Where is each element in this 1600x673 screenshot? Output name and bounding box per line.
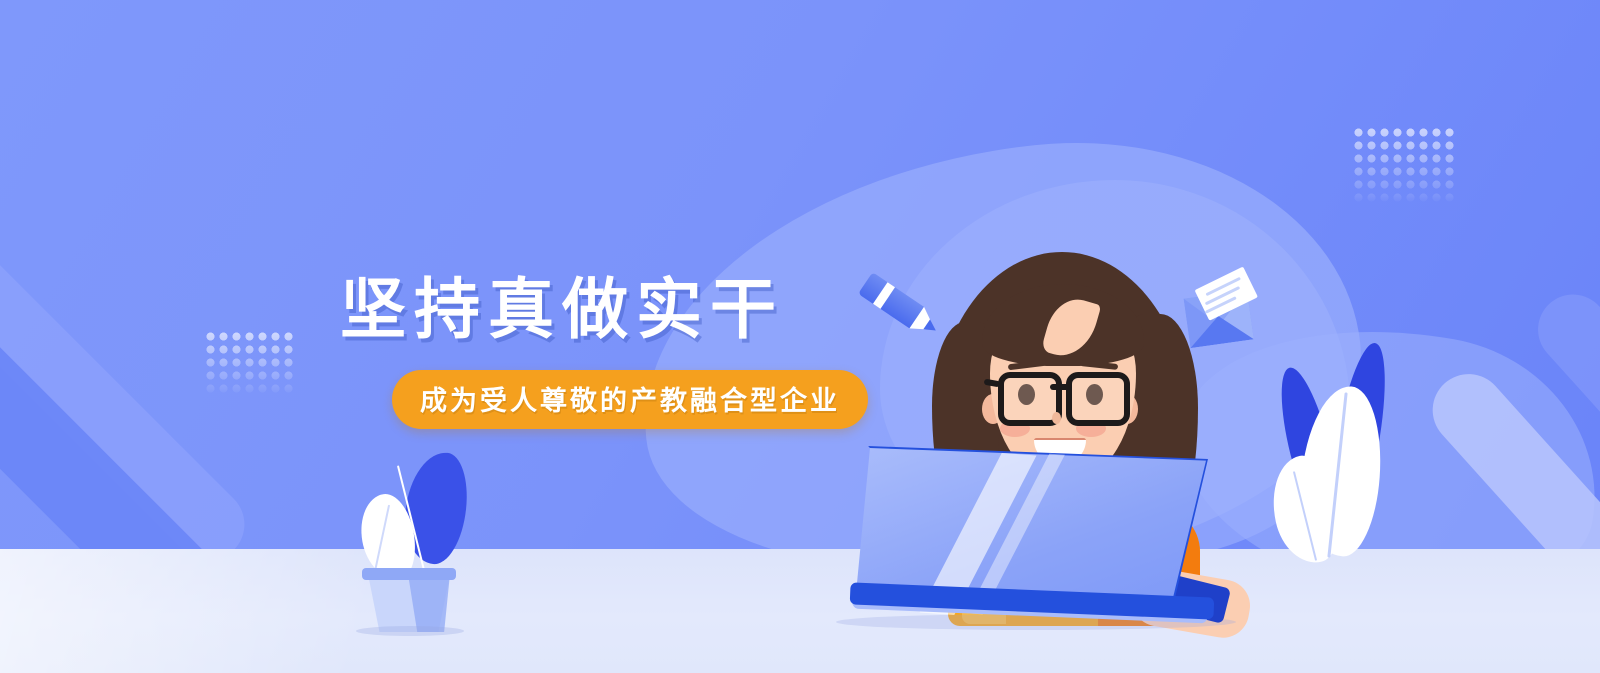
hero-headline: 坚持真做实干 — [340, 272, 900, 348]
plant-shadow — [356, 626, 464, 636]
hero-subtitle-text: 成为受人尊敬的产教融合型企业 — [420, 386, 840, 416]
laptop-illustration — [856, 448, 1224, 640]
dot-grid-pattern-right — [1352, 126, 1456, 204]
hero-subtitle-badge: 成为受人尊敬的产教融合型企业 — [392, 370, 868, 429]
laptop-lid — [856, 448, 1206, 606]
hero-banner: 坚持真做实干 成为受人尊敬的产教融合型企业 — [0, 0, 1600, 673]
glasses-bridge-icon — [1050, 384, 1070, 390]
glasses-lens-right-icon — [1066, 372, 1130, 426]
potted-plant-icon — [350, 452, 480, 637]
hero-copy: 坚持真做实干 成为受人尊敬的产教融合型企业 — [340, 272, 900, 429]
character-nose — [1052, 412, 1061, 424]
decorative-leaf-cluster-icon — [1250, 330, 1440, 560]
plant-pot-rim — [362, 568, 456, 580]
dot-grid-pattern-left — [204, 330, 296, 396]
